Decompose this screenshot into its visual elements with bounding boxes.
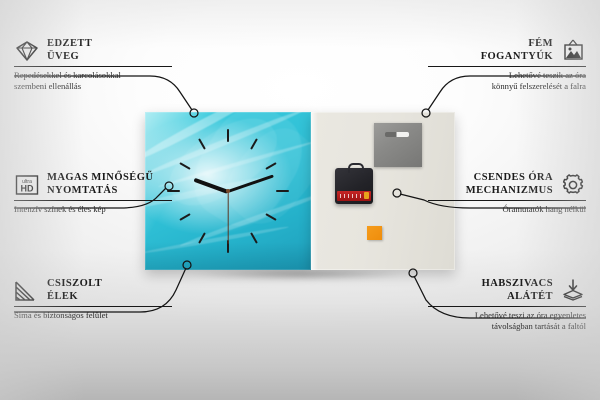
feature-header: CSENDES ÓRA MECHANIZMUS — [428, 172, 586, 197]
feature-header: ultra HD MAGAS MINŐSÉGŰ NYOMTATÁS — [14, 172, 172, 197]
infographic-canvas: EDZETT ÜVEG Repedésekkel és karcolásokka… — [0, 0, 600, 400]
foam-pad — [367, 226, 382, 240]
feature-title: CSISZOLT ÉLEK — [47, 278, 102, 303]
feature-divider — [428, 306, 586, 307]
feature-header: EDZETT ÜVEG — [14, 38, 172, 63]
feature-subtitle: Intenzív színek és éles kép — [14, 204, 172, 215]
feature-polished-edges: CSISZOLT ÉLEK Sima és biztonságos felüle… — [14, 278, 172, 321]
feature-header: FÉM FOGANTYÚK — [428, 38, 586, 63]
clock-mechanism — [335, 168, 373, 204]
battery-positive-tip — [364, 192, 369, 199]
feature-subtitle: Sima és biztonságos felület — [14, 310, 172, 321]
svg-text:HD: HD — [21, 183, 34, 193]
feature-title: MAGAS MINŐSÉGŰ NYOMTATÁS — [47, 172, 153, 197]
battery-label-lines — [340, 194, 362, 198]
feature-foam-pad: HABSZIVACS ALÁTÉT Lehetővé teszi az óra … — [428, 278, 586, 332]
feature-silent-clock-mechanism: CSENDES ÓRA MECHANIZMUS Óramutatók hang … — [428, 172, 586, 215]
feature-subtitle: Lehetővé teszik az óra könnyű felszerelé… — [428, 70, 586, 91]
diamond-icon — [14, 39, 40, 63]
feature-subtitle: Lehetővé teszi az óra egyenletes távolsá… — [428, 310, 586, 331]
feature-subtitle: Óramutatók hang nélkül — [428, 204, 586, 215]
feature-header: HABSZIVACS ALÁTÉT — [428, 278, 586, 303]
clock-center-pivot — [226, 189, 230, 193]
hour-tick — [276, 190, 289, 192]
feature-divider — [428, 66, 586, 67]
feature-divider — [428, 200, 586, 201]
ultra-hd-icon: ultra HD — [14, 173, 40, 197]
feature-divider — [14, 200, 172, 201]
feature-metal-handles: FÉM FOGANTYÚK Lehetővé teszik az óra kön… — [428, 38, 586, 92]
mechanism-hanger-loop — [348, 163, 364, 173]
feature-divider — [14, 306, 172, 307]
feature-high-quality-print: ultra HD MAGAS MINŐSÉGŰ NYOMTATÁS Intenz… — [14, 172, 172, 215]
feature-title: EDZETT ÜVEG — [47, 38, 92, 63]
framed-picture-icon — [560, 39, 586, 63]
feature-title: FÉM FOGANTYÚK — [481, 38, 553, 63]
feature-title: CSENDES ÓRA MECHANIZMUS — [466, 172, 553, 197]
second-hand — [227, 192, 228, 244]
metal-hanger-plate — [374, 123, 422, 167]
feature-subtitle: Repedésekkel és karcolásokkal szembeni e… — [14, 70, 172, 91]
feature-divider — [14, 66, 172, 67]
hour-tick — [227, 240, 229, 253]
feature-title: HABSZIVACS ALÁTÉT — [482, 278, 553, 303]
product-image — [145, 112, 455, 270]
polished-edge-icon — [14, 279, 40, 303]
feature-tempered-glass: EDZETT ÜVEG Repedésekkel és karcolásokka… — [14, 38, 172, 92]
hour-tick — [227, 129, 229, 142]
gear-icon — [560, 173, 586, 197]
foam-pad-arrow-icon — [560, 279, 586, 303]
feature-header: CSISZOLT ÉLEK — [14, 278, 172, 303]
battery — [337, 191, 371, 201]
hanger-slot — [385, 132, 409, 137]
